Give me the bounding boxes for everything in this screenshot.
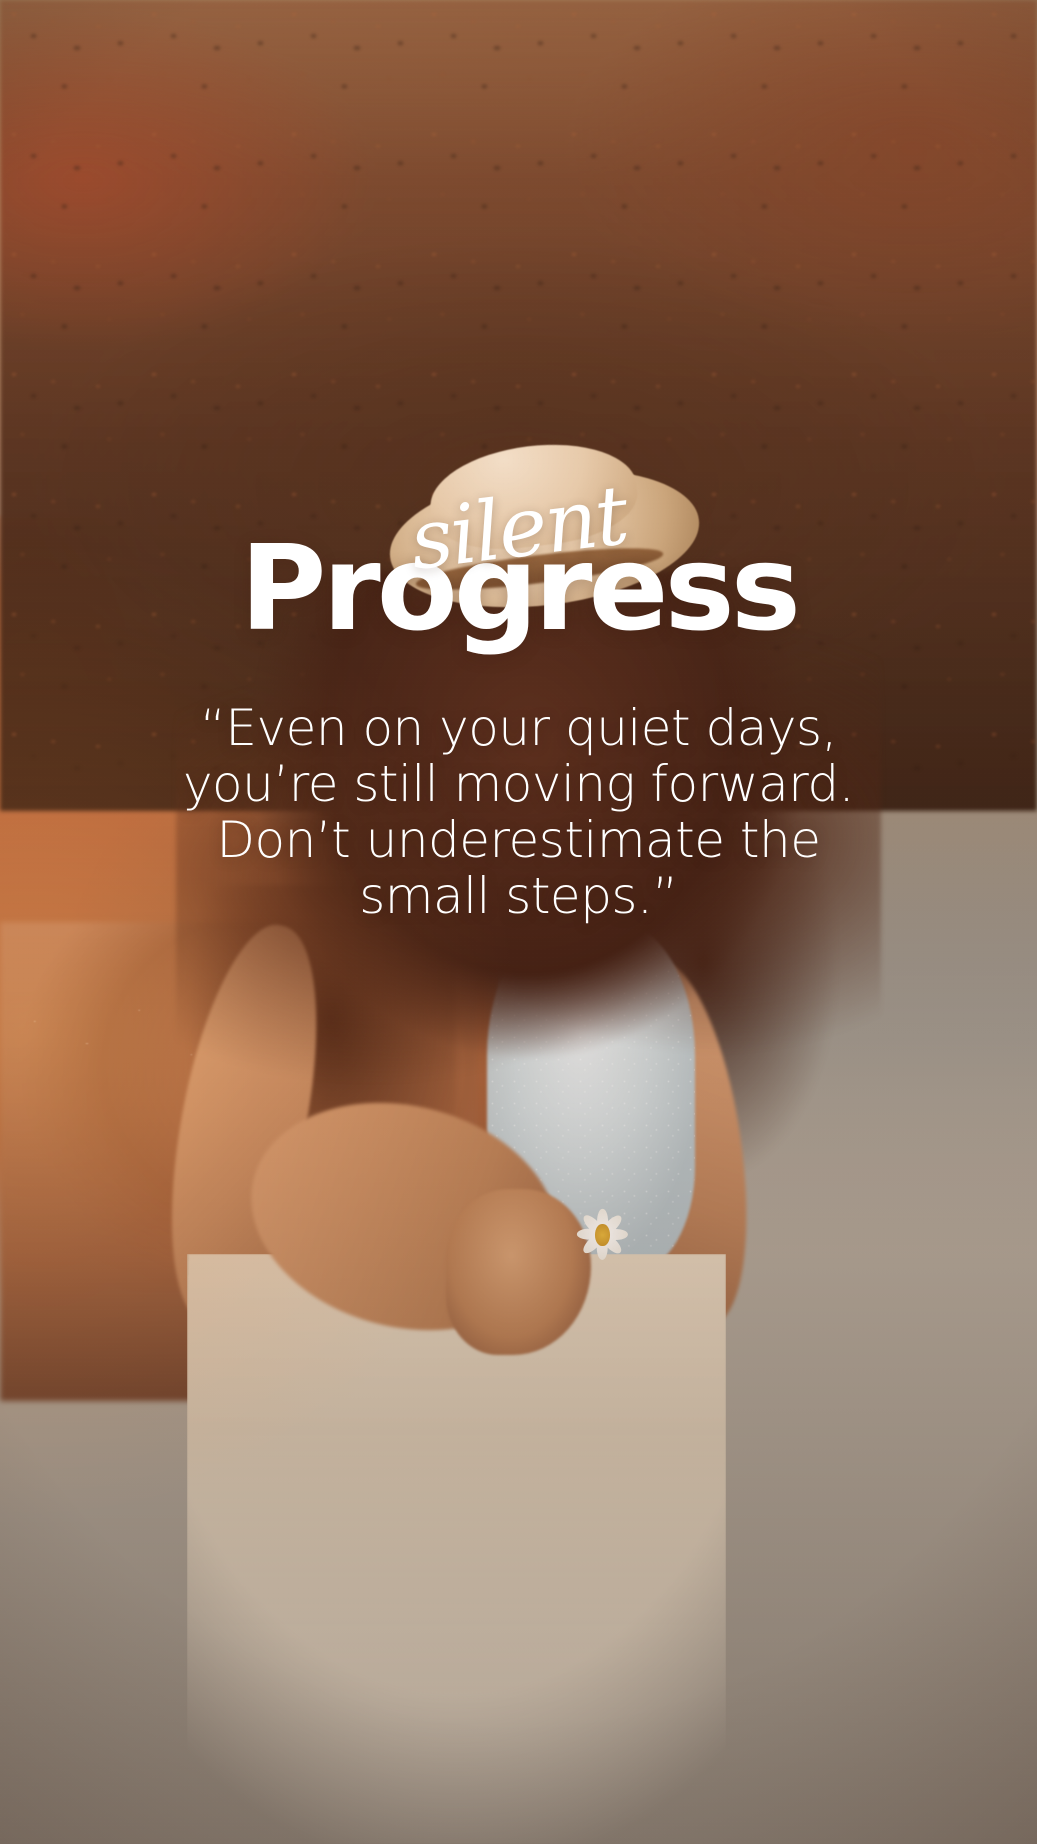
quote-poster: silent Progress “Even on your quiet days… <box>0 0 1037 1844</box>
skirt-folds <box>187 1254 726 1844</box>
hair-strands <box>104 609 954 1310</box>
woman-figure <box>0 0 1037 1844</box>
